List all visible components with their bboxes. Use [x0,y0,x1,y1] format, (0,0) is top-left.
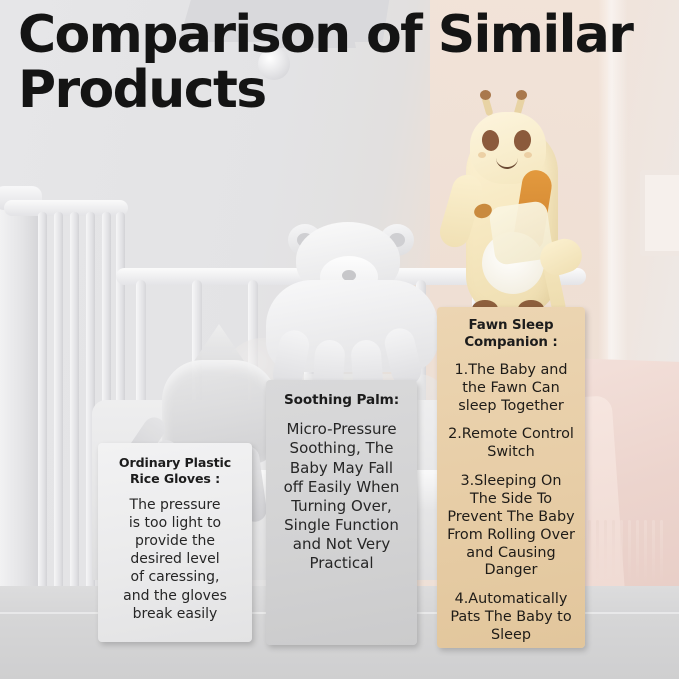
infographic-canvas: Comparison of Similar Products Ordinary … [0,0,679,679]
page-title: Comparison of Similar Products [18,8,666,118]
fawn-giraffe-plush-product [440,108,600,323]
card-title-fawn-sleep-companion: Fawn Sleep Companion : [445,318,577,352]
crib-post [0,196,40,644]
comparison-card-soothing-palm: Soothing Palm: Micro-Pressure Soothing, … [266,380,417,645]
card-title-soothing-palm: Soothing Palm: [276,392,407,409]
comparison-card-fawn-sleep-companion: Fawn Sleep Companion : 1.The Baby and th… [437,307,585,648]
soothing-palm-bear-product [262,222,442,392]
card-body-ordinary-gloves: The pressure is too light to provide the… [108,496,242,623]
card-title-ordinary-gloves: Ordinary Plastic Rice Gloves : [108,455,242,487]
fawn-feature-item: 1.The Baby and the Fawn Can sleep Togeth… [445,362,577,416]
picture-frame [640,170,679,256]
comparison-card-ordinary-gloves: Ordinary Plastic Rice Gloves : The press… [98,443,252,642]
card-body-soothing-palm: Micro-Pressure Soothing, The Baby May Fa… [276,420,407,574]
fawn-feature-item: 2.Remote Control Switch [445,426,577,462]
fawn-feature-item: 4.Automatically Pats The Baby to Sleep [445,591,577,645]
fawn-feature-item: 3.Sleeping On The Side To Prevent The Ba… [445,473,577,580]
